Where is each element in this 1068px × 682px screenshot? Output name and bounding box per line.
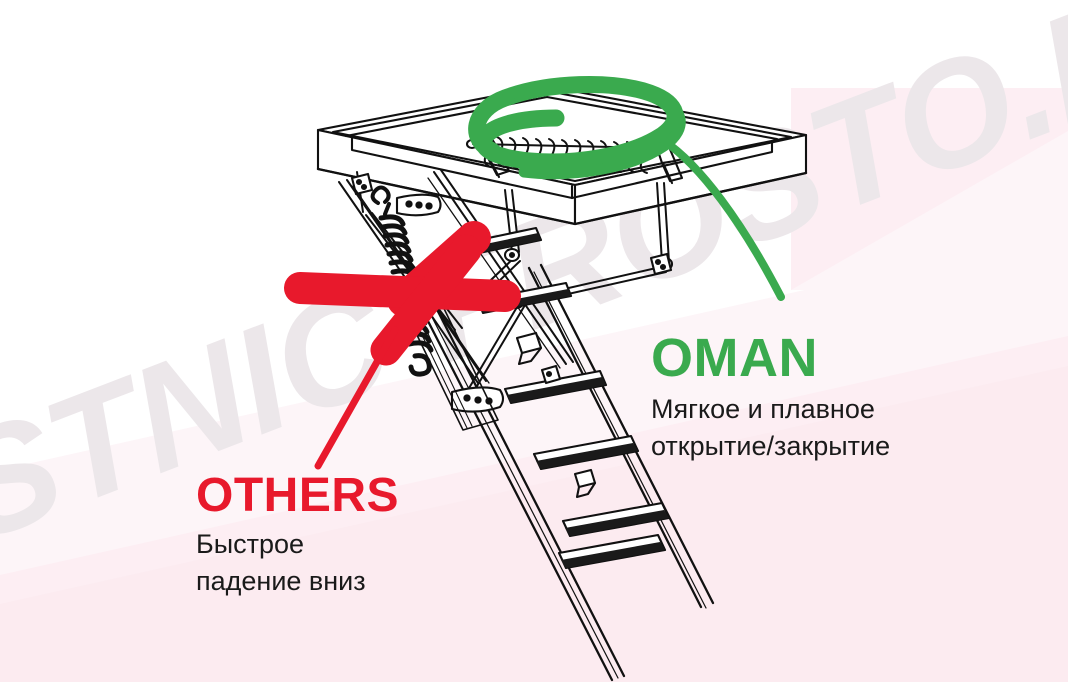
oman-description: Мягкое и плавное открытие/закрытие xyxy=(651,391,890,466)
oman-title: OMAN xyxy=(651,331,890,385)
callout-others: OTHERS Быстрое падение вниз xyxy=(196,472,399,601)
others-description: Быстрое падение вниз xyxy=(196,526,399,601)
callouts-layer: OMAN Мягкое и плавное открытие/закрытие … xyxy=(0,0,1068,682)
infographic-canvas: LESTNIC-FROSTO.RU xyxy=(0,0,1068,682)
callout-oman: OMAN Мягкое и плавное открытие/закрытие xyxy=(651,331,890,466)
others-title: OTHERS xyxy=(196,472,399,520)
